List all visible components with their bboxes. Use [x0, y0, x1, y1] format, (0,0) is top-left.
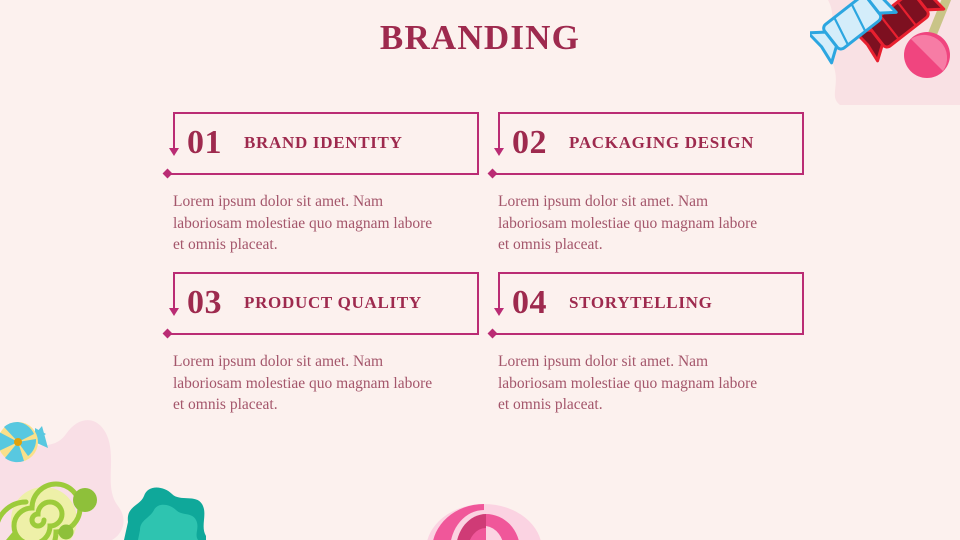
- swirl-candy-pink-icon: [424, 488, 544, 540]
- frame-right-border: [477, 112, 479, 175]
- item-03-number: 03: [187, 286, 222, 320]
- item-04-number: 04: [512, 286, 547, 320]
- item-03-frame: 03 PRODUCT QUALITY: [161, 272, 479, 335]
- blob-pink-bottom-left-icon: [0, 420, 124, 540]
- frame-bottom-border: [493, 173, 804, 175]
- item-03-body: Lorem ipsum dolor sit amet. Nam laborios…: [173, 351, 441, 416]
- frame-bottom-border: [168, 333, 479, 335]
- item-02-number: 02: [512, 126, 547, 160]
- diamond-dot-icon: [488, 169, 498, 179]
- item-04-heading: STORYTELLING: [569, 294, 713, 311]
- frame-bottom-border: [168, 173, 479, 175]
- diamond-dot-icon: [163, 169, 173, 179]
- item-04-body: Lorem ipsum dolor sit amet. Nam laborios…: [498, 351, 766, 416]
- blob-teal-icon: [124, 488, 206, 540]
- item-01-body: Lorem ipsum dolor sit amet. Nam laborios…: [173, 191, 441, 256]
- page-title: BRANDING: [0, 18, 960, 58]
- pinwheel-candy-icon: [0, 422, 48, 462]
- item-03-heading: PRODUCT QUALITY: [244, 294, 422, 311]
- item-02-body: Lorem ipsum dolor sit amet. Nam laborios…: [498, 191, 766, 256]
- frame-right-border: [802, 272, 804, 335]
- item-01-frame: 01 BRAND IDENTITY: [161, 112, 479, 175]
- decoration-layer: [0, 0, 960, 540]
- item-01: 01 BRAND IDENTITY Lorem ipsum dolor sit …: [155, 112, 485, 256]
- frame-bottom-border: [493, 333, 804, 335]
- item-04: 04 STORYTELLING Lorem ipsum dolor sit am…: [480, 272, 810, 416]
- item-03: 03 PRODUCT QUALITY Lorem ipsum dolor sit…: [155, 272, 485, 416]
- item-01-number: 01: [187, 126, 222, 160]
- item-01-heading: BRAND IDENTITY: [244, 134, 403, 151]
- item-02-heading: PACKAGING DESIGN: [569, 134, 754, 151]
- frame-right-border: [477, 272, 479, 335]
- frame-right-border: [802, 112, 804, 175]
- dot-green-large-icon: [73, 488, 97, 512]
- item-02: 02 PACKAGING DESIGN Lorem ipsum dolor si…: [480, 112, 810, 256]
- candy-cluster-bottom-left: [0, 410, 210, 540]
- item-02-frame: 02 PACKAGING DESIGN: [486, 112, 804, 175]
- diamond-dot-icon: [488, 329, 498, 339]
- item-04-frame: 04 STORYTELLING: [486, 272, 804, 335]
- slide-root: BRANDING 01 BRAND IDENTITY Lorem ipsu: [0, 0, 960, 540]
- swirl-lollipop-green-icon: [0, 484, 80, 540]
- dot-green-small-icon: [59, 525, 74, 540]
- diamond-dot-icon: [163, 329, 173, 339]
